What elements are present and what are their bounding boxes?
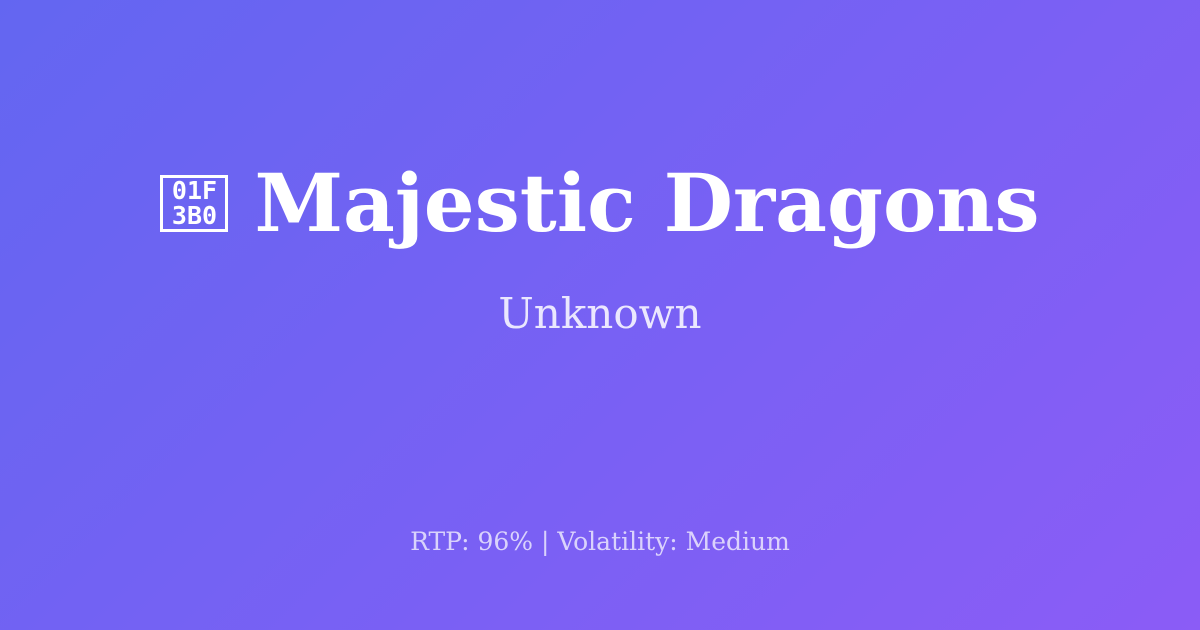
slot-machine-icon: 01F 3B0 bbox=[160, 175, 228, 232]
hero-section: 01F 3B0 Majestic Dragons Unknown bbox=[0, 0, 1200, 500]
title-row: 01F 3B0 Majestic Dragons bbox=[160, 162, 1039, 244]
provider-subtitle: Unknown bbox=[498, 290, 701, 338]
slot-machine-icon-hex-top: 01F bbox=[172, 178, 217, 203]
game-stats-line: RTP: 96% | Volatility: Medium bbox=[0, 527, 1200, 557]
slot-machine-icon-hex-bottom: 3B0 bbox=[172, 203, 217, 228]
page-title: Majestic Dragons bbox=[254, 162, 1039, 244]
og-card: 01F 3B0 Majestic Dragons Unknown RTP: 96… bbox=[0, 0, 1200, 630]
